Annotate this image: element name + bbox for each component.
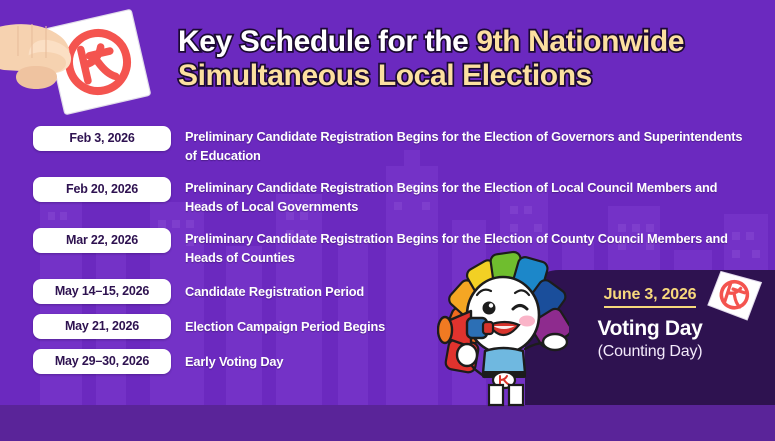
schedule-date-pill: May 29–30, 2026 [33,349,171,374]
schedule-description: Preliminary Candidate Registration Begin… [185,177,753,216]
table-row: Feb 20, 2026 Preliminary Candidate Regis… [33,177,753,216]
title-line-1: Key Schedule for the 9th Nationwide [178,25,738,59]
page-title: Key Schedule for the 9th Nationwide Simu… [178,25,738,93]
schedule-date-pill: Mar 22, 2026 [33,228,171,253]
schedule-date-pill: May 14–15, 2026 [33,279,171,304]
title-part-gold: 9th Nationwide [476,25,684,58]
schedule-date-pill: Feb 3, 2026 [33,126,171,151]
voting-date: June 3, 2026 [604,286,697,308]
hand-holding-ballot-icon [0,0,170,120]
table-row: Feb 3, 2026 Preliminary Candidate Regist… [33,126,753,165]
bottom-strip [0,405,775,441]
title-line-2: Simultaneous Local Elections [178,59,738,93]
schedule-date-pill: May 21, 2026 [33,314,171,339]
poster-header: Key Schedule for the 9th Nationwide Simu… [0,0,775,118]
title-part-white: Key Schedule for the [178,25,476,58]
schedule-date-pill: Feb 20, 2026 [33,177,171,202]
table-row: Mar 22, 2026 Preliminary Candidate Regis… [33,228,753,267]
election-mascot-megaphone-icon [437,249,569,407]
schedule-description: Preliminary Candidate Registration Begin… [185,126,753,165]
ballot-paper-icon [706,269,764,323]
election-schedule-poster: Key Schedule for the 9th Nationwide Simu… [0,0,775,441]
